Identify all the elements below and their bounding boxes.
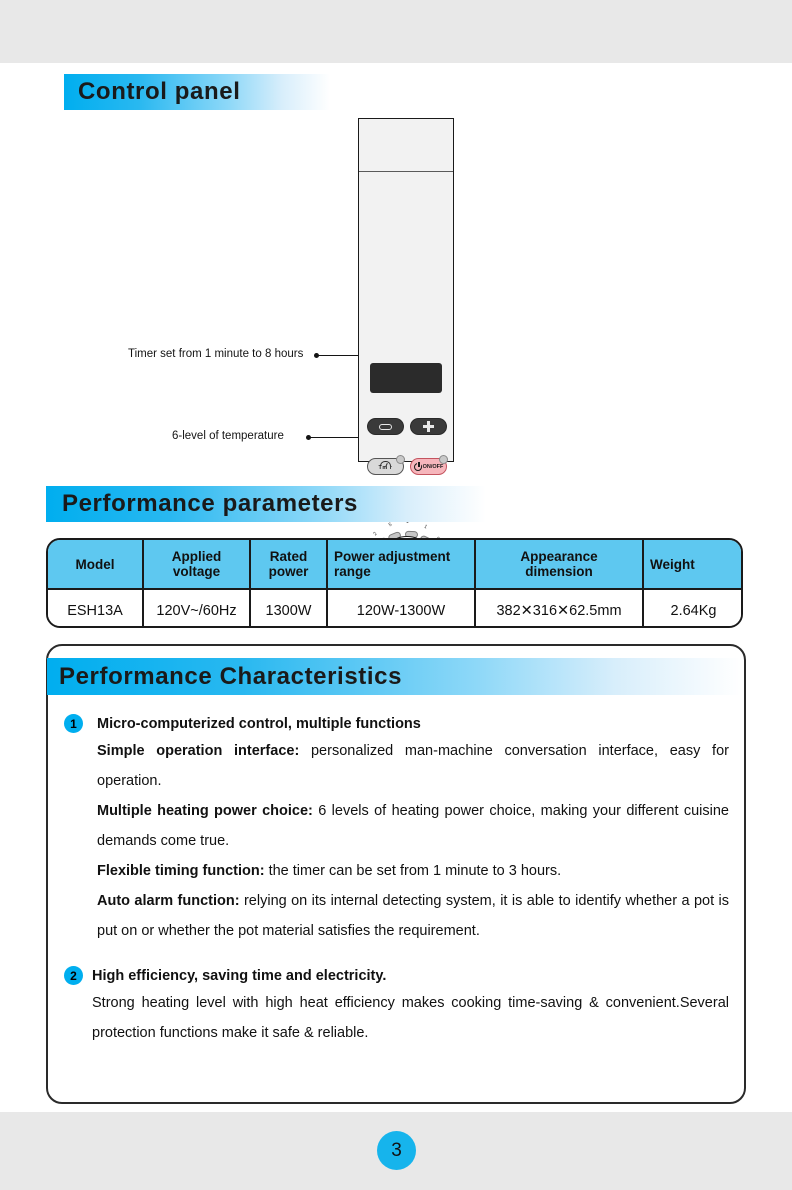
control-panel-housing <box>358 118 454 462</box>
performance-parameters-table: Model Applied voltage Rated power Power … <box>46 538 743 628</box>
table-header-row: Model Applied voltage Rated power Power … <box>48 540 743 589</box>
timer-button[interactable]: Tm r <box>367 458 404 475</box>
section-header-control-panel: Control panel <box>64 74 330 110</box>
display-window <box>370 363 442 393</box>
cell-model: ESH13A <box>48 589 143 628</box>
plus-button[interactable] <box>410 418 447 435</box>
paragraph-text: Strong heating level with high heat effi… <box>92 995 729 1041</box>
column-header-model: Model <box>48 540 143 589</box>
dial-tick-label: 5 <box>388 522 393 529</box>
table-row: ESH13A 120V~/60Hz 1300W 120W-1300W 382✕3… <box>48 589 743 628</box>
callout-label-timer: Timer set from 1 minute to 8 hours <box>128 348 303 360</box>
page-number-badge: 3 <box>377 1131 416 1170</box>
power-icon <box>414 463 422 471</box>
cell-rated-power: 1300W <box>250 589 327 628</box>
column-header-weight: Weight <box>643 540 743 589</box>
plus-icon <box>423 421 434 432</box>
cell-appearance-dimension: 382✕316✕62.5mm <box>475 589 643 628</box>
paragraph-text: the timer can be set from 1 minute to 3 … <box>265 863 562 879</box>
column-header-appearance-dimension: Appearance dimension <box>475 540 643 589</box>
column-header-rated-power: Rated power <box>250 540 327 589</box>
characteristic-paragraph: Strong heating level with high heat effi… <box>92 988 729 1048</box>
onoff-button-label: ON/OFF <box>423 464 444 470</box>
onoff-button[interactable]: ON/OFF <box>410 458 447 475</box>
column-header-applied-voltage: Applied voltage <box>143 540 250 589</box>
column-header-power-adjustment-range: Power adjustment range <box>327 540 475 589</box>
callout-label-temperature: 6-level of temperature <box>172 430 284 442</box>
callout-line-temperature <box>310 437 358 438</box>
paragraph-lead-in: Flexible timing function: <box>97 863 265 879</box>
onoff-indicator-led <box>439 455 448 464</box>
adjust-button-row <box>367 418 447 435</box>
callout-line-timer <box>318 355 358 356</box>
characteristic-paragraph: Simple operation interface: personalized… <box>97 736 729 796</box>
characteristic-paragraph: Flexible timing function: the timer can … <box>97 856 729 886</box>
panel-divider-line <box>359 171 453 172</box>
bullet-number-badge: 1 <box>64 714 83 733</box>
paragraph-lead-in: Simple operation interface: <box>97 743 299 759</box>
dial-tick-label: 1 <box>423 524 428 531</box>
control-panel-illustration: Tm r ON/OFF 5 2 5 1 1 5 2 <box>358 118 456 464</box>
characteristic-heading: High efficiency, saving time and electri… <box>92 964 729 988</box>
paragraph-lead-in: Multiple heating power choice: <box>97 803 313 819</box>
cell-power-adjustment-range: 120W-1300W <box>327 589 475 628</box>
section-title-performance-characteristics: Performance Characteristics <box>59 663 402 691</box>
document-page: Control panel Tm r <box>0 0 792 1190</box>
paragraph-lead-in: Auto alarm function: <box>97 893 240 909</box>
timer-indicator-led <box>396 455 405 464</box>
cell-weight: 2.64Kg <box>643 589 743 628</box>
page-top-margin-band <box>0 0 792 63</box>
characteristic-item-2: 2 High efficiency, saving time and elect… <box>64 964 729 1048</box>
bullet-number-badge: 2 <box>64 966 83 985</box>
timer-button-content: Tm r <box>379 461 393 472</box>
timer-arc-icon <box>380 461 391 466</box>
minus-icon <box>379 424 392 430</box>
section-title-control-panel: Control panel <box>78 78 240 106</box>
section-header-performance-characteristics: Performance Characteristics <box>47 658 741 695</box>
minus-button[interactable] <box>367 418 404 435</box>
characteristic-item-1: 1 Micro-computerized control, multiple f… <box>64 712 729 946</box>
cell-applied-voltage: 120V~/60Hz <box>143 589 250 628</box>
onoff-button-content: ON/OFF <box>414 463 444 471</box>
characteristic-paragraph: Multiple heating power choice: 6 levels … <box>97 796 729 856</box>
dial-tick-label: 2 <box>372 531 378 537</box>
section-header-performance-parameters: Performance parameters <box>46 486 486 522</box>
section-title-performance-parameters: Performance parameters <box>62 490 358 518</box>
characteristics-content: 1 Micro-computerized control, multiple f… <box>64 712 729 1054</box>
function-button-row: Tm r ON/OFF <box>367 458 447 475</box>
characteristic-heading: Micro-computerized control, multiple fun… <box>97 712 729 736</box>
characteristic-paragraph: Auto alarm function: relying on its inte… <box>97 886 729 946</box>
